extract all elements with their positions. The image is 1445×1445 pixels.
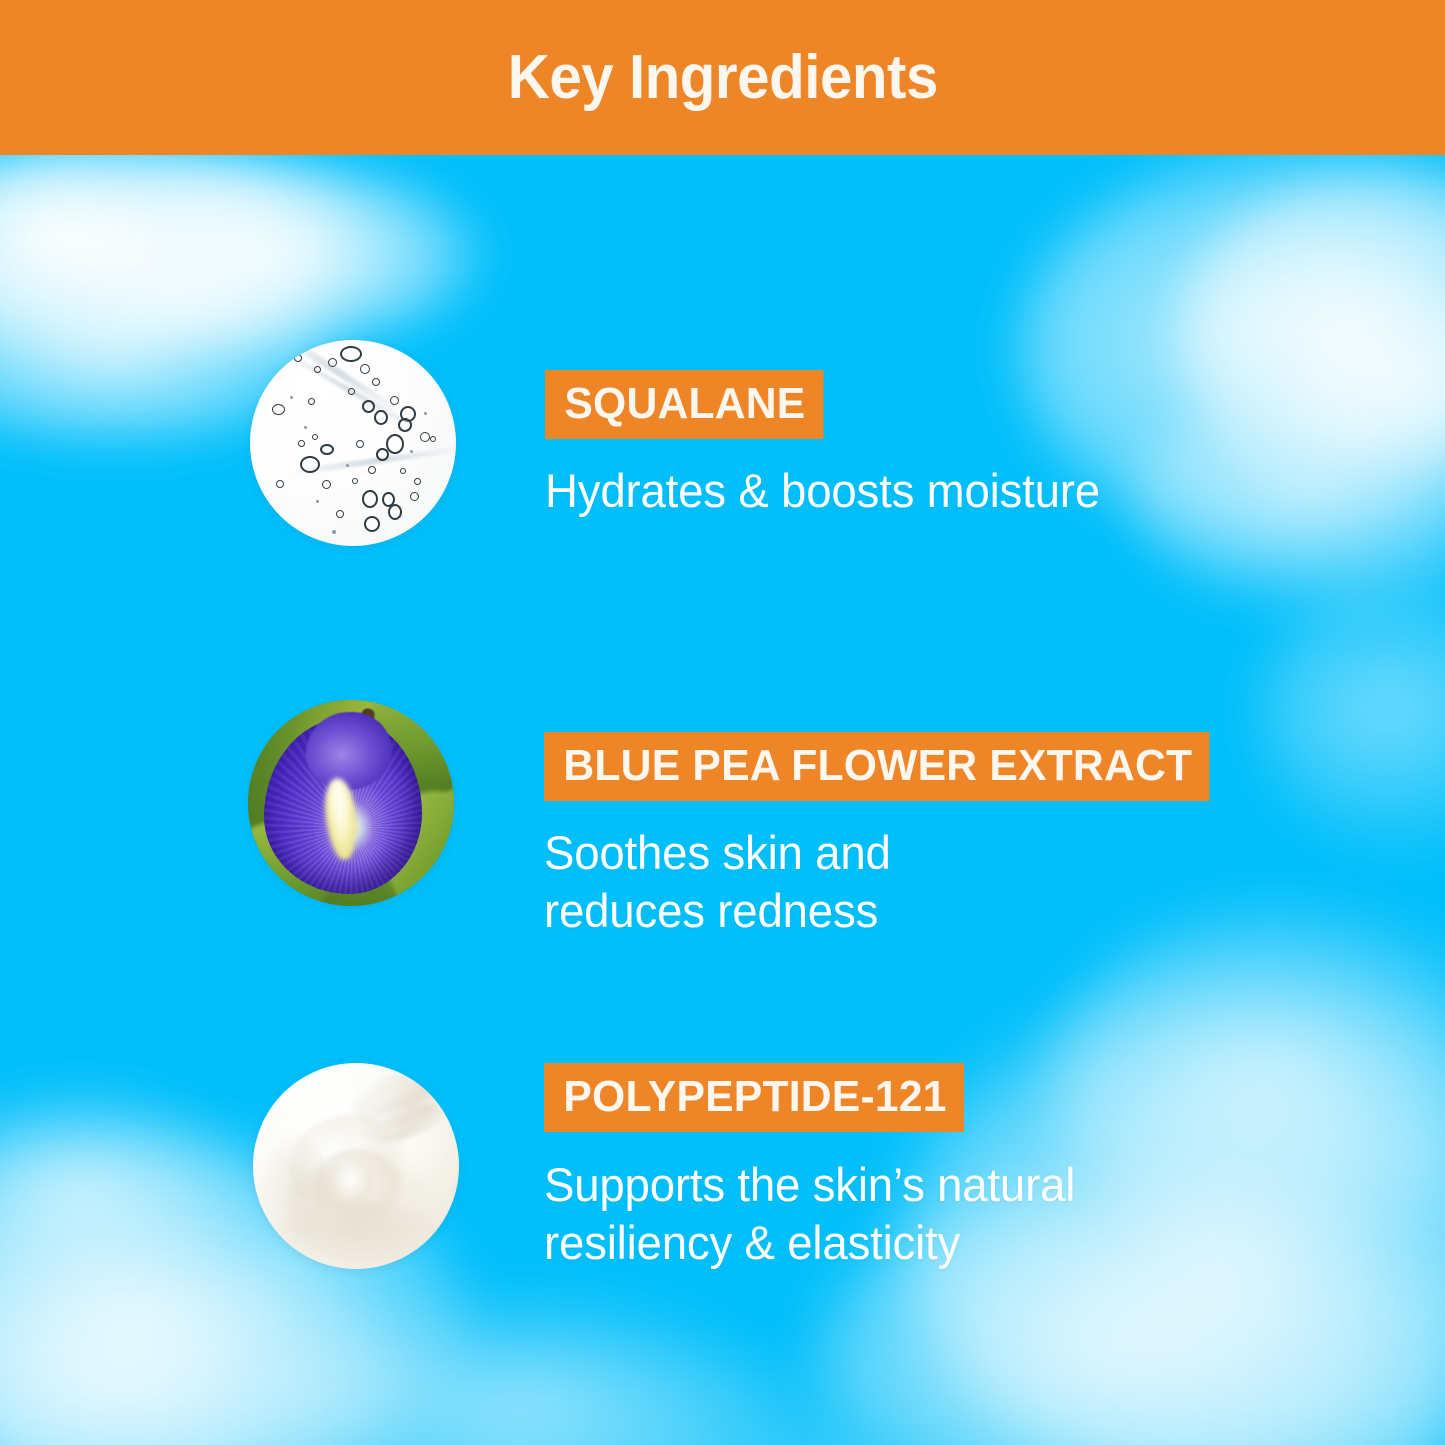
gel-bubble: [410, 450, 413, 453]
ingredient-text-block: SQUALANE Hydrates & boosts moisture: [545, 340, 1117, 520]
gel-bubble: [362, 490, 378, 508]
ingredient-row: BLUE PEA FLOWER EXTRACT Soothes skin and…: [248, 700, 1230, 941]
cloud-shape: [0, 120, 380, 370]
clear-gel-texture-swatch: [250, 340, 456, 546]
ingredient-row: POLYPEPTIDE-121 Supports the skin’s natu…: [253, 1063, 1092, 1273]
cloud-shape: [1180, 170, 1445, 500]
gel-bubble: [414, 478, 421, 485]
gel-bubble: [362, 400, 375, 413]
gel-bubble: [390, 396, 399, 405]
gel-bubble: [346, 464, 349, 467]
gel-bubble: [400, 468, 406, 474]
gel-bubble: [314, 366, 321, 373]
gel-bubble: [294, 354, 302, 362]
ingredient-text-block: POLYPEPTIDE-121 Supports the skin’s natu…: [544, 1063, 1092, 1273]
gel-bubble: [276, 480, 284, 488]
cloud-shape: [0, 160, 180, 310]
gel-bubble: [424, 412, 427, 415]
page-title: Key Ingredients: [507, 47, 937, 109]
gel-bubble: [322, 480, 331, 489]
gel-bubble: [332, 530, 336, 534]
ingredient-row: SQUALANE Hydrates & boosts moisture: [250, 340, 1117, 546]
header-banner: Key Ingredients: [0, 0, 1445, 155]
gel-bubble: [328, 358, 337, 367]
gel-base: [250, 340, 456, 546]
ingredients-infographic: Key Ingredients: [0, 0, 1445, 1445]
gel-bubble: [316, 500, 319, 503]
ingredient-name-badge: BLUE PEA FLOWER EXTRACT: [544, 732, 1210, 801]
gel-bubble: [340, 346, 362, 362]
gel-bubble: [352, 478, 358, 484]
gel-bubble: [336, 510, 344, 518]
white-cream-texture-swatch: [253, 1063, 459, 1269]
cloud-shape: [0, 1080, 260, 1300]
ingredient-description: Soothes skin and reduces redness: [544, 824, 891, 941]
gel-bubble: [410, 492, 419, 501]
cloud-shape: [1260, 560, 1445, 860]
flower-upper-petal: [306, 712, 392, 790]
cloud-shape: [1290, 290, 1445, 480]
gel-bubble: [360, 364, 370, 374]
cloud-shape: [1130, 380, 1445, 610]
gel-bubble: [272, 404, 285, 415]
gel-bubble: [312, 434, 318, 440]
gel-bubble: [398, 418, 412, 432]
gel-bubble: [298, 440, 305, 447]
cloud-shape: [0, 1330, 1445, 1445]
blue-pea-flower-swatch: [248, 700, 454, 906]
cream-shadow: [259, 1133, 329, 1243]
cream-peak: [327, 1161, 373, 1205]
gel-bubble: [348, 388, 355, 395]
gel-bubble: [420, 432, 430, 442]
gel-bubble: [300, 456, 320, 473]
cloud-shape: [1050, 900, 1445, 1260]
gel-bubble: [372, 378, 380, 386]
gel-bubble: [374, 410, 388, 425]
gel-bubble: [388, 504, 402, 520]
gel-bubble: [386, 434, 404, 454]
ingredient-text-block: BLUE PEA FLOWER EXTRACT Soothes skin and…: [544, 700, 1230, 941]
gel-bubble: [320, 444, 334, 455]
ingredient-name-badge: SQUALANE: [545, 370, 823, 439]
gel-bubble: [290, 396, 293, 399]
gel-bubble: [304, 426, 307, 429]
gel-bubble: [368, 466, 376, 474]
cloud-shape: [60, 150, 490, 360]
cloud-shape: [260, 1290, 780, 1445]
gel-bubble: [364, 516, 380, 532]
gel-bubble: [430, 436, 436, 442]
gel-bubble: [356, 440, 364, 448]
ingredient-description: Hydrates & boosts moisture: [545, 462, 1100, 520]
ingredient-name-badge: POLYPEPTIDE-121: [544, 1063, 964, 1132]
ingredient-description: Supports the skin’s natural resiliency &…: [544, 1156, 1075, 1273]
gel-bubble: [308, 398, 315, 405]
